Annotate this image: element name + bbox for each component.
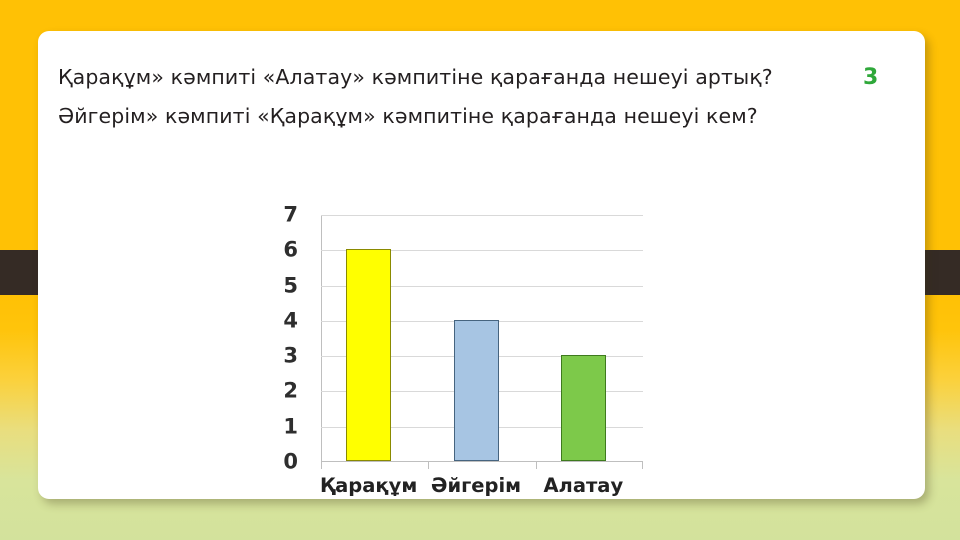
chart-bar bbox=[561, 355, 606, 461]
slide-background: Қарақұм» кәмпиті «Алатау» кәмпитіне қара… bbox=[0, 0, 960, 540]
y-axis-tick-label: 3 bbox=[272, 346, 298, 367]
x-axis-tick bbox=[642, 462, 643, 469]
x-axis-category-label: Алатау bbox=[543, 473, 623, 499]
x-axis-tick bbox=[428, 462, 429, 469]
gridline bbox=[321, 215, 643, 216]
bar-chart: 01234567 ҚарақұмӘйгерімАлатау bbox=[238, 181, 668, 491]
y-axis-tick-label: 6 bbox=[272, 240, 298, 261]
y-axis-tick-label: 5 bbox=[272, 275, 298, 296]
chart-bar bbox=[454, 320, 499, 461]
question-block: Қарақұм» кәмпиті «Алатау» кәмпитіне қара… bbox=[58, 58, 908, 136]
answer-value-1: 3 bbox=[863, 58, 878, 97]
y-axis-line bbox=[321, 215, 322, 462]
x-axis-tick bbox=[321, 462, 322, 469]
x-axis-category-label: Әйгерім bbox=[431, 473, 521, 499]
content-card: Қарақұм» кәмпиті «Алатау» кәмпитіне қара… bbox=[38, 31, 925, 499]
y-axis-tick-label: 1 bbox=[272, 416, 298, 437]
chart-plot-wrapper: 01234567 ҚарақұмӘйгерімАлатау bbox=[238, 181, 668, 491]
chart-bar bbox=[346, 249, 391, 461]
y-axis-tick-label: 0 bbox=[272, 452, 298, 473]
chart-plot-area bbox=[321, 215, 643, 462]
y-axis-tick-label: 2 bbox=[272, 381, 298, 402]
question-line-2: Әйгерім» кәмпиті «Қарақұм» кәмпитіне қар… bbox=[58, 97, 908, 136]
question-line-1-text: Қарақұм» кәмпиті «Алатау» кәмпитіне қара… bbox=[58, 65, 773, 89]
x-axis-category-labels: ҚарақұмӘйгерімАлатау bbox=[321, 473, 643, 503]
y-axis-tick-label: 4 bbox=[272, 310, 298, 331]
x-axis-line bbox=[321, 461, 643, 462]
x-axis-category-label: Қарақұм bbox=[320, 473, 417, 499]
x-axis-tick bbox=[536, 462, 537, 469]
question-line-1: Қарақұм» кәмпиті «Алатау» кәмпитіне қара… bbox=[58, 58, 908, 97]
y-axis-tick-label: 7 bbox=[272, 205, 298, 226]
y-axis-tick-labels: 01234567 bbox=[272, 215, 298, 462]
